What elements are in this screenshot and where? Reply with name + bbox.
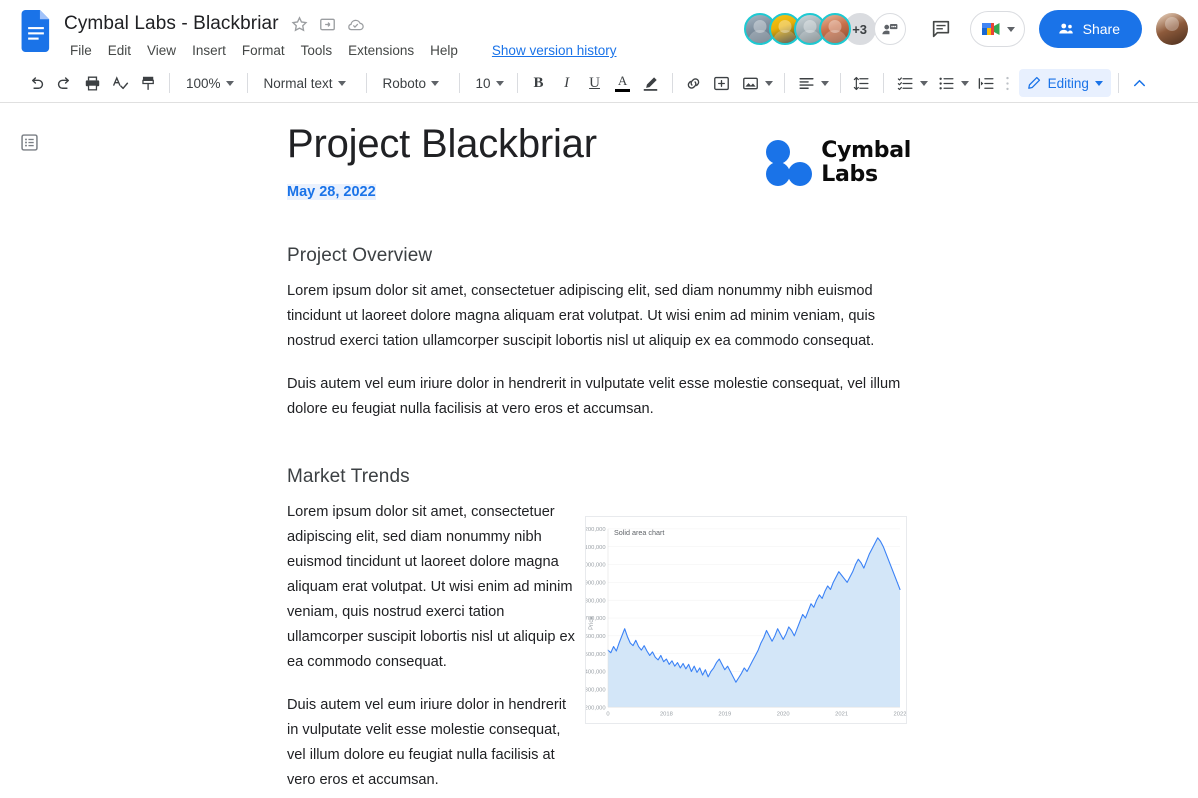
chevron-down-icon: [765, 81, 773, 86]
chart-y-axis-label: Price: [589, 616, 595, 630]
zoom-value: 100%: [186, 76, 221, 91]
share-button-label: Share: [1083, 21, 1120, 37]
svg-text:800,000: 800,000: [586, 599, 606, 605]
google-meet-icon: [979, 19, 1003, 39]
section-heading-overview: Project Overview: [287, 245, 911, 267]
add-comment-button[interactable]: [708, 69, 736, 97]
document-header-row: Project Blackbriar May 28, 2022 Cymbal L…: [287, 103, 911, 201]
share-button[interactable]: Share: [1039, 10, 1142, 48]
title-row: Cymbal Labs - Blackbriar: [62, 10, 616, 38]
chevron-down-icon: [338, 81, 346, 86]
cymbal-labs-logo: Cymbal Labs: [766, 139, 911, 187]
chevron-down-icon: [1095, 81, 1103, 86]
add-comment-icon: [712, 74, 731, 93]
align-left-icon: [797, 74, 816, 93]
more-options-button[interactable]: [1001, 69, 1015, 97]
market-trends-chart[interactable]: 200,000300,000400,000500,000600,000700,0…: [585, 516, 907, 724]
toolbar-divider: [883, 73, 884, 93]
chevron-down-icon: [920, 81, 928, 86]
pencil-icon: [1026, 75, 1042, 91]
svg-text:2018: 2018: [660, 712, 673, 718]
menu-item-format[interactable]: Format: [234, 41, 293, 60]
header-right-cluster: +3: [744, 10, 1188, 48]
insert-image-dropdown[interactable]: [736, 69, 777, 97]
text-color-icon: A: [615, 74, 630, 92]
text-color-button[interactable]: A: [609, 69, 637, 97]
app-header: Cymbal Labs - Blackbriar File Edit View …: [0, 0, 1198, 64]
insert-link-button[interactable]: [680, 69, 708, 97]
menu-item-file[interactable]: File: [62, 41, 100, 60]
italic-icon: I: [564, 75, 569, 92]
svg-text:500,000: 500,000: [586, 652, 606, 658]
svg-text:400,000: 400,000: [586, 670, 606, 676]
svg-text:1,200,000: 1,200,000: [586, 527, 606, 533]
bold-button[interactable]: B: [525, 69, 553, 97]
google-meet-button[interactable]: [970, 11, 1025, 47]
star-icon[interactable]: [290, 15, 309, 34]
paragraph: Duis autem vel eum iriure dolor in hendr…: [287, 372, 911, 422]
chevron-up-icon: [1130, 74, 1149, 93]
font-size-dropdown[interactable]: 10: [467, 69, 510, 97]
font-size-value: 10: [476, 76, 491, 91]
account-avatar[interactable]: [1156, 13, 1188, 45]
underline-button[interactable]: U: [581, 69, 609, 97]
print-icon[interactable]: [78, 69, 106, 97]
area-chart-svg: 200,000300,000400,000500,000600,000700,0…: [586, 517, 906, 723]
menu-item-insert[interactable]: Insert: [184, 41, 234, 60]
logo-line-1: Cymbal: [821, 138, 911, 163]
chart-title: Solid area chart: [614, 529, 664, 537]
indent-icon: [977, 74, 996, 93]
toolbar-divider: [672, 73, 673, 93]
line-spacing-icon: [852, 74, 871, 93]
document-title[interactable]: Cymbal Labs - Blackbriar: [62, 12, 281, 36]
document-page[interactable]: Project Blackbriar May 28, 2022 Cymbal L…: [287, 103, 911, 798]
toolbar-divider: [169, 73, 170, 93]
market-trends-text: Lorem ipsum dolor sit amet, consectetuer…: [287, 500, 577, 798]
toolbar-divider: [459, 73, 460, 93]
menu-bar: File Edit View Insert Format Tools Exten…: [62, 41, 616, 60]
share-people-icon: [1057, 20, 1075, 38]
menu-item-view[interactable]: View: [139, 41, 184, 60]
paragraph: Duis autem vel eum iriure dolor in hendr…: [287, 693, 577, 793]
insert-image-icon: [741, 74, 760, 93]
editing-mode-label: Editing: [1048, 76, 1089, 91]
page-title: Project Blackbriar: [287, 121, 597, 168]
title-and-date: Project Blackbriar May 28, 2022: [287, 121, 597, 201]
bold-icon: B: [534, 75, 544, 92]
svg-text:600,000: 600,000: [586, 634, 606, 640]
checklist-dropdown[interactable]: [891, 69, 932, 97]
paragraph: Lorem ipsum dolor sit amet, consectetuer…: [287, 279, 911, 354]
toolbar-divider: [247, 73, 248, 93]
document-outline-toggle[interactable]: [16, 129, 42, 155]
align-dropdown[interactable]: [792, 69, 833, 97]
menu-item-tools[interactable]: Tools: [293, 41, 341, 60]
section-heading-market-trends: Market Trends: [287, 466, 911, 488]
presence-chat-icon[interactable]: [874, 13, 906, 45]
market-trends-body: Lorem ipsum dolor sit amet, consectetuer…: [287, 500, 911, 798]
chevron-down-icon: [226, 81, 234, 86]
indent-button[interactable]: [973, 69, 1001, 97]
show-version-history-link[interactable]: Show version history: [492, 43, 617, 58]
zoom-dropdown[interactable]: 100%: [177, 69, 240, 97]
redo-icon[interactable]: [50, 69, 78, 97]
paint-format-icon[interactable]: [134, 69, 162, 97]
market-trends-chart-wrap: 200,000300,000400,000500,000600,000700,0…: [599, 500, 911, 798]
highlight-color-button[interactable]: [637, 69, 665, 97]
highlight-pen-icon: [641, 74, 660, 93]
collapse-toolbar-button[interactable]: [1126, 69, 1154, 97]
bulleted-list-dropdown[interactable]: [932, 69, 973, 97]
google-docs-logo[interactable]: [16, 10, 56, 64]
chevron-down-icon: [496, 81, 504, 86]
chevron-down-icon: [821, 81, 829, 86]
document-outline-icon: [19, 132, 40, 153]
menu-item-help[interactable]: Help: [422, 41, 466, 60]
bulleted-list-icon: [937, 74, 956, 93]
italic-button[interactable]: I: [553, 69, 581, 97]
svg-text:0: 0: [606, 712, 609, 718]
toolbar-divider: [784, 73, 785, 93]
cymbal-logo-wordmark: Cymbal Labs: [821, 139, 911, 187]
avatar[interactable]: [819, 13, 851, 45]
more-options-icon: [1005, 75, 1010, 92]
svg-text:2019: 2019: [718, 712, 731, 718]
toolbar-divider: [366, 73, 367, 93]
paragraph-style-dropdown[interactable]: Normal text: [255, 69, 359, 97]
svg-text:2021: 2021: [835, 712, 848, 718]
cloud-saved-icon[interactable]: [346, 15, 365, 34]
formatting-toolbar: 100% Normal text Roboto 10 B I U A: [0, 64, 1198, 102]
paragraph: Lorem ipsum dolor sit amet, consectetuer…: [287, 500, 577, 675]
toolbar-divider: [517, 73, 518, 93]
link-icon: [684, 74, 703, 93]
paragraph-style-value: Normal text: [264, 76, 333, 91]
svg-text:1,000,000: 1,000,000: [586, 563, 606, 569]
chevron-down-icon: [961, 81, 969, 86]
underline-icon: U: [589, 75, 600, 92]
svg-text:2020: 2020: [777, 712, 790, 718]
chevron-down-icon: [431, 81, 439, 86]
svg-text:200,000: 200,000: [586, 706, 606, 712]
document-workspace: Project Blackbriar May 28, 2022 Cymbal L…: [0, 103, 1198, 798]
menu-item-edit[interactable]: Edit: [100, 41, 139, 60]
document-date: May 28, 2022: [287, 184, 376, 200]
toolbar-divider: [1118, 73, 1119, 93]
line-spacing-button[interactable]: [848, 69, 876, 97]
toolbar-divider: [840, 73, 841, 93]
svg-text:2022: 2022: [894, 712, 906, 718]
meet-chevron-down-icon[interactable]: [1007, 27, 1015, 32]
spellcheck-icon[interactable]: [106, 69, 134, 97]
font-family-value: Roboto: [383, 76, 427, 91]
svg-text:300,000: 300,000: [586, 688, 606, 694]
title-and-menus: Cymbal Labs - Blackbriar File Edit View …: [62, 8, 616, 60]
move-to-folder-icon[interactable]: [318, 15, 337, 34]
font-family-dropdown[interactable]: Roboto: [374, 69, 452, 97]
undo-icon[interactable]: [22, 69, 50, 97]
svg-text:1,100,000: 1,100,000: [586, 545, 606, 551]
editing-mode-chip[interactable]: Editing: [1019, 69, 1111, 97]
cymbal-logo-dots-icon: [766, 140, 812, 186]
comment-history-icon[interactable]: [922, 10, 960, 48]
logo-line-2: Labs: [821, 162, 878, 187]
svg-text:900,000: 900,000: [586, 581, 606, 587]
checklist-icon: [896, 74, 915, 93]
collaborator-avatars: +3: [744, 13, 906, 45]
menu-item-extensions[interactable]: Extensions: [340, 41, 422, 60]
